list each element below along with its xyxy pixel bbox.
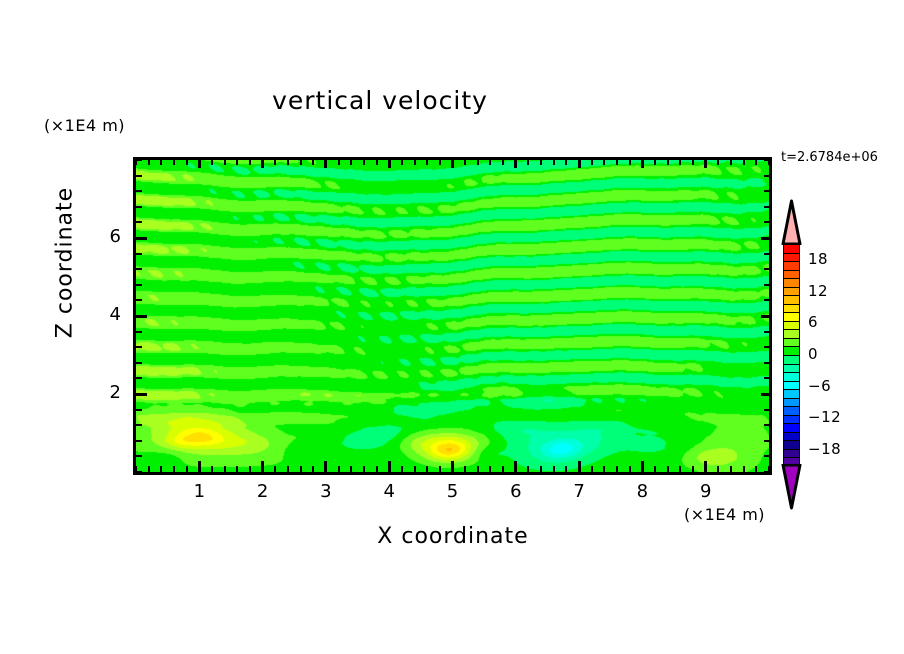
y-minor-tick xyxy=(136,471,142,473)
x-minor-tick xyxy=(603,466,605,472)
x-minor-tick-top xyxy=(679,160,681,165)
y-minor-tick xyxy=(136,377,142,379)
x-minor-tick xyxy=(376,466,378,472)
y-tick-label: 2 xyxy=(81,382,121,403)
y-minor-tick xyxy=(136,190,142,192)
plot-figure: vertical velocity (×1E4 m) 123456789246 … xyxy=(0,0,904,654)
x-minor-tick xyxy=(338,466,340,472)
x-minor-tick xyxy=(654,466,656,472)
y-tick-label: 6 xyxy=(81,226,121,247)
y-minor-tick-right xyxy=(764,253,769,255)
x-minor-tick xyxy=(211,466,213,472)
x-minor-tick-top xyxy=(186,160,188,165)
contour-plot-area xyxy=(133,157,772,475)
y-minor-tick-right xyxy=(764,440,769,442)
x-tick-label: 1 xyxy=(179,481,219,502)
x-minor-tick-top xyxy=(717,160,719,165)
colorbar-tick-label: −18 xyxy=(808,440,841,458)
x-minor-tick xyxy=(502,466,504,472)
colorbar-tick-label: −12 xyxy=(808,408,841,426)
x-minor-tick-top xyxy=(312,160,314,165)
x-minor-tick xyxy=(489,466,491,472)
colorbar xyxy=(783,244,800,466)
y-major-tick-right xyxy=(761,315,769,318)
y-major-tick-right xyxy=(761,393,769,396)
x-minor-tick xyxy=(667,466,669,472)
y-minor-tick-right xyxy=(764,409,769,411)
y-minor-tick-right xyxy=(764,362,769,364)
x-major-tick-top xyxy=(578,160,581,168)
x-minor-tick-top xyxy=(527,160,529,165)
x-minor-tick-top xyxy=(464,160,466,165)
x-minor-tick xyxy=(414,466,416,472)
x-major-tick xyxy=(578,461,581,472)
x-minor-tick-top xyxy=(439,160,441,165)
x-tick-label: 5 xyxy=(433,481,473,502)
x-tick-label: 9 xyxy=(686,481,726,502)
x-minor-tick-top xyxy=(148,160,150,165)
x-major-tick-top xyxy=(261,160,264,168)
y-minor-tick-right xyxy=(764,471,769,473)
y-minor-tick xyxy=(136,440,142,442)
x-minor-tick xyxy=(160,466,162,472)
y-minor-tick xyxy=(136,331,142,333)
y-minor-tick xyxy=(136,424,142,426)
x-minor-tick xyxy=(755,466,757,472)
x-minor-tick-top xyxy=(249,160,251,165)
x-minor-tick xyxy=(274,466,276,472)
x-minor-tick xyxy=(249,466,251,472)
x-minor-tick xyxy=(401,466,403,472)
x-major-tick-top xyxy=(514,160,517,168)
x-major-tick xyxy=(514,461,517,472)
x-minor-tick-top xyxy=(629,160,631,165)
x-major-tick-top xyxy=(324,160,327,168)
x-minor-tick-top xyxy=(553,160,555,165)
y-minor-tick xyxy=(136,284,142,286)
x-minor-tick-top xyxy=(755,160,757,165)
contour-field-canvas xyxy=(136,160,769,472)
x-minor-tick-top xyxy=(287,160,289,165)
x-minor-tick-top xyxy=(477,160,479,165)
x-minor-tick-top xyxy=(376,160,378,165)
x-minor-tick xyxy=(717,466,719,472)
y-minor-tick xyxy=(136,346,142,348)
x-minor-tick-top xyxy=(692,160,694,165)
x-minor-tick xyxy=(743,466,745,472)
x-minor-tick-top xyxy=(591,160,593,165)
x-minor-tick-top xyxy=(654,160,656,165)
x-minor-tick-top xyxy=(236,160,238,165)
y-minor-tick-right xyxy=(764,268,769,270)
x-minor-tick-top xyxy=(502,160,504,165)
page-title: vertical velocity xyxy=(0,86,760,115)
x-minor-tick xyxy=(540,466,542,472)
x-tick-label: 4 xyxy=(369,481,409,502)
x-minor-tick xyxy=(426,466,428,472)
x-minor-tick-top xyxy=(426,160,428,165)
x-major-tick-top xyxy=(198,160,201,168)
x-major-tick-top xyxy=(451,160,454,168)
x-axis-title: X coordinate xyxy=(253,524,653,549)
y-minor-tick xyxy=(136,175,142,177)
x-minor-tick-top xyxy=(730,160,732,165)
x-major-tick xyxy=(451,461,454,472)
x-minor-tick-top xyxy=(603,160,605,165)
x-axis-unit-label: (×1E4 m) xyxy=(684,505,765,524)
x-minor-tick-top xyxy=(338,160,340,165)
x-major-tick xyxy=(704,461,707,472)
y-minor-tick-right xyxy=(764,377,769,379)
y-minor-tick xyxy=(136,455,142,457)
colorbar-tick-label: 6 xyxy=(808,313,818,331)
x-minor-tick xyxy=(553,466,555,472)
x-minor-tick-top xyxy=(667,160,669,165)
y-major-tick xyxy=(136,237,147,240)
colorbar-tick-label: −6 xyxy=(808,377,831,395)
x-major-tick-top xyxy=(641,160,644,168)
x-minor-tick-top xyxy=(160,160,162,165)
y-axis-unit-label: (×1E4 m) xyxy=(44,116,125,135)
y-axis-title: Z coordinate xyxy=(53,183,78,343)
x-major-tick xyxy=(198,461,201,472)
x-minor-tick xyxy=(679,466,681,472)
x-minor-tick xyxy=(692,466,694,472)
x-major-tick xyxy=(261,461,264,472)
x-major-tick-top xyxy=(388,160,391,168)
x-minor-tick-top xyxy=(173,160,175,165)
x-major-tick xyxy=(388,461,391,472)
y-minor-tick-right xyxy=(764,424,769,426)
y-minor-tick-right xyxy=(764,299,769,301)
y-minor-tick xyxy=(136,409,142,411)
x-minor-tick xyxy=(363,466,365,472)
x-minor-tick xyxy=(616,466,618,472)
x-minor-tick xyxy=(730,466,732,472)
colorbar-tick-label: 12 xyxy=(808,282,828,300)
y-major-tick xyxy=(136,393,147,396)
x-minor-tick-top xyxy=(300,160,302,165)
timestamp-annotation: t=2.6784e+06 xyxy=(781,150,878,165)
x-minor-tick xyxy=(565,466,567,472)
y-minor-tick xyxy=(136,362,142,364)
y-minor-tick xyxy=(136,253,142,255)
x-major-tick-top xyxy=(704,160,707,168)
x-minor-tick xyxy=(287,466,289,472)
y-minor-tick-right xyxy=(764,221,769,223)
y-minor-tick-right xyxy=(764,175,769,177)
y-major-tick xyxy=(136,315,147,318)
x-minor-tick xyxy=(477,466,479,472)
colorbar-tick-label: 0 xyxy=(808,345,818,363)
colorbar-under-arrow-icon xyxy=(777,464,806,510)
x-minor-tick-top xyxy=(274,160,276,165)
x-tick-label: 8 xyxy=(622,481,662,502)
y-minor-tick-right xyxy=(764,206,769,208)
x-minor-tick-top xyxy=(565,160,567,165)
y-minor-tick-right xyxy=(764,284,769,286)
x-minor-tick xyxy=(224,466,226,472)
x-minor-tick xyxy=(591,466,593,472)
y-minor-tick xyxy=(136,159,142,161)
x-tick-label: 6 xyxy=(496,481,536,502)
x-minor-tick-top xyxy=(743,160,745,165)
x-minor-tick-top xyxy=(414,160,416,165)
x-minor-tick-top xyxy=(350,160,352,165)
x-minor-tick xyxy=(173,466,175,472)
x-major-tick xyxy=(324,461,327,472)
y-minor-tick xyxy=(136,221,142,223)
x-minor-tick-top xyxy=(616,160,618,165)
x-minor-tick-top xyxy=(224,160,226,165)
y-minor-tick xyxy=(136,206,142,208)
x-tick-label: 2 xyxy=(243,481,283,502)
x-minor-tick xyxy=(464,466,466,472)
y-minor-tick-right xyxy=(764,159,769,161)
x-minor-tick xyxy=(148,466,150,472)
x-minor-tick xyxy=(300,466,302,472)
y-minor-tick-right xyxy=(764,190,769,192)
x-minor-tick-top xyxy=(401,160,403,165)
x-minor-tick xyxy=(186,466,188,472)
colorbar-over-arrow-icon xyxy=(777,199,806,245)
x-minor-tick-top xyxy=(363,160,365,165)
y-minor-tick xyxy=(136,268,142,270)
x-minor-tick xyxy=(312,466,314,472)
y-major-tick-right xyxy=(761,237,769,240)
y-minor-tick-right xyxy=(764,346,769,348)
x-minor-tick xyxy=(527,466,529,472)
x-minor-tick xyxy=(350,466,352,472)
y-tick-label: 4 xyxy=(81,304,121,325)
x-minor-tick xyxy=(439,466,441,472)
x-tick-label: 7 xyxy=(559,481,599,502)
x-minor-tick-top xyxy=(489,160,491,165)
x-minor-tick xyxy=(236,466,238,472)
y-minor-tick xyxy=(136,299,142,301)
x-minor-tick-top xyxy=(540,160,542,165)
y-minor-tick-right xyxy=(764,331,769,333)
y-minor-tick-right xyxy=(764,455,769,457)
x-tick-label: 3 xyxy=(306,481,346,502)
x-minor-tick-top xyxy=(211,160,213,165)
colorbar-tick-label: 18 xyxy=(808,250,828,268)
x-major-tick xyxy=(641,461,644,472)
x-minor-tick xyxy=(629,466,631,472)
